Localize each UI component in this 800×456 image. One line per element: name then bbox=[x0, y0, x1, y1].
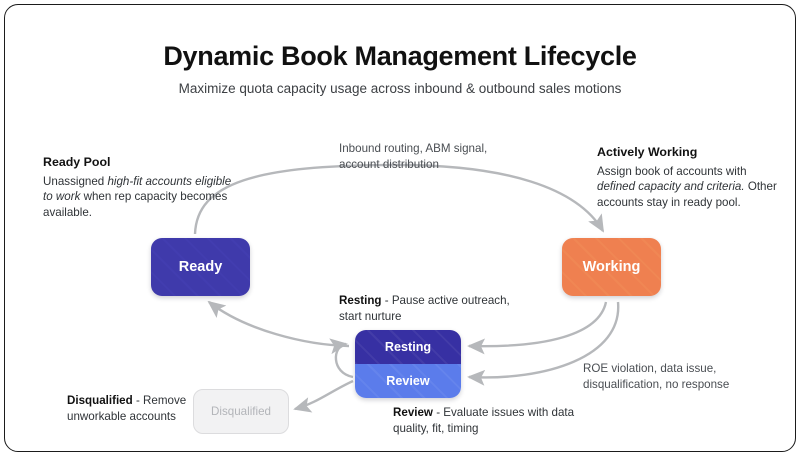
node-review[interactable]: Review bbox=[355, 364, 461, 398]
node-ready[interactable]: Ready bbox=[151, 238, 250, 296]
annotation-inbound-routing: Inbound routing, ABM signal, account dis… bbox=[339, 141, 529, 172]
node-working[interactable]: Working bbox=[562, 238, 661, 296]
annotation-resting-term: Resting bbox=[339, 294, 382, 307]
annotation-ready-pool-heading: Ready Pool bbox=[43, 155, 243, 171]
page-subtitle: Maximize quota capacity usage across inb… bbox=[5, 81, 795, 96]
annotation-resting: Resting - Pause active outreach, start n… bbox=[339, 293, 519, 324]
annotation-roe-violation: ROE violation, data issue, disqualificat… bbox=[583, 361, 783, 392]
annotation-actively-working-text-1: Assign book of accounts with bbox=[597, 165, 747, 178]
annotation-ready-pool-text-1: Unassigned bbox=[43, 175, 107, 188]
node-resting[interactable]: Resting bbox=[355, 330, 461, 364]
arrow-resting-to-ready bbox=[209, 302, 349, 346]
annotation-disqualified-term: Disqualified bbox=[67, 394, 133, 407]
diagram-card: Dynamic Book Management Lifecycle Maximi… bbox=[4, 4, 796, 452]
annotation-disqualified: Disqualified - Remove unworkable account… bbox=[67, 393, 242, 424]
node-resting-review-stack: Resting Review bbox=[355, 330, 461, 398]
page-title: Dynamic Book Management Lifecycle bbox=[5, 41, 795, 72]
arrow-ready-to-working bbox=[195, 165, 603, 234]
annotation-actively-working-heading: Actively Working bbox=[597, 145, 777, 161]
annotation-ready-pool: Ready Pool Unassigned high-fit accounts … bbox=[43, 155, 243, 220]
arrow-review-to-resting bbox=[336, 344, 353, 377]
annotation-review: Review - Evaluate issues with data quali… bbox=[393, 405, 593, 436]
annotation-review-term: Review bbox=[393, 406, 433, 419]
annotation-actively-working: Actively Working Assign book of accounts… bbox=[597, 145, 777, 210]
diagram-stage: Dynamic Book Management Lifecycle Maximi… bbox=[5, 5, 795, 451]
arrow-review-to-disqualified bbox=[295, 381, 353, 409]
annotation-actively-working-emphasis: defined capacity and criteria. bbox=[597, 180, 745, 193]
